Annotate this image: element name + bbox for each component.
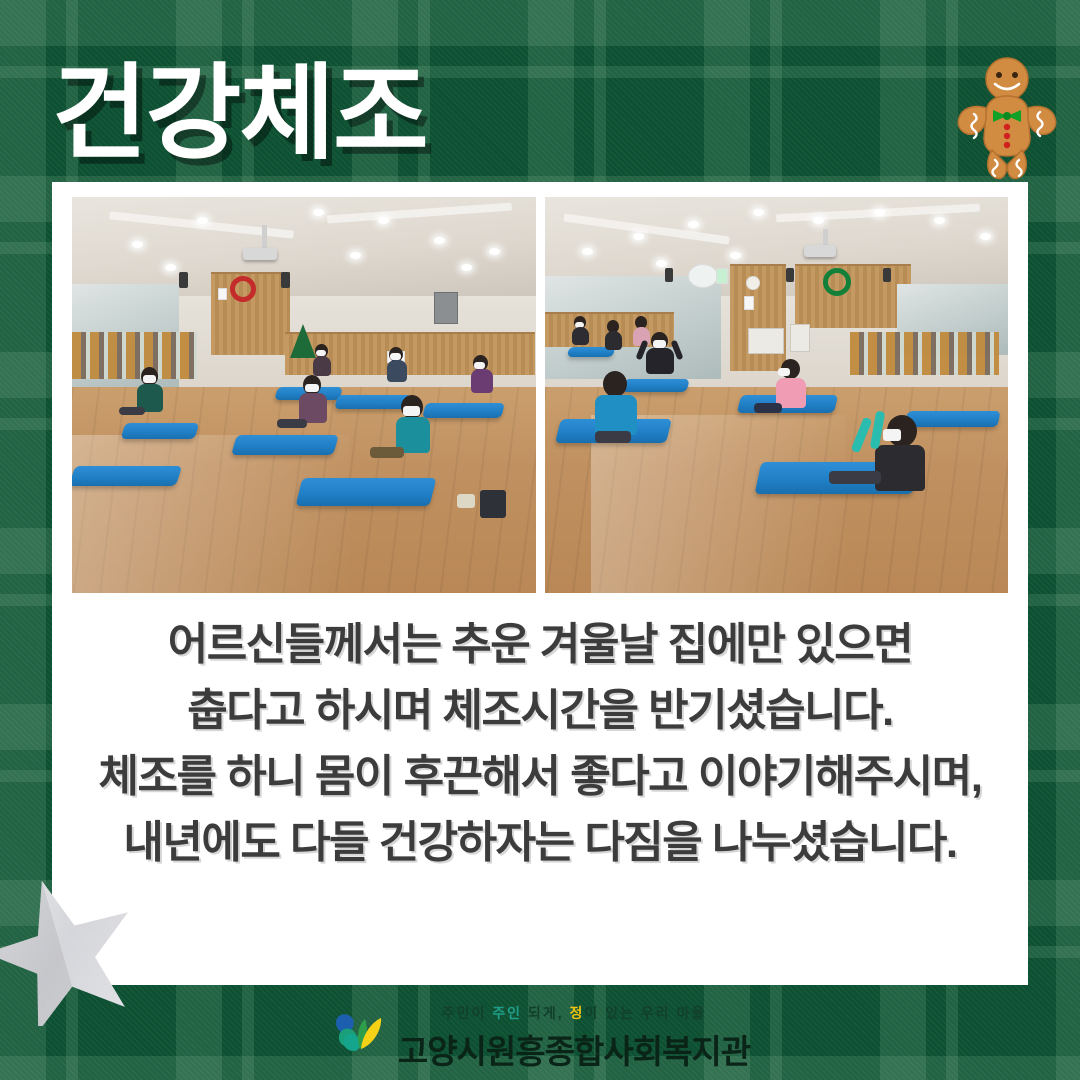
glitter-star-icon (0, 876, 138, 1026)
body-line-2: 춥다고 하시며 체조시간을 반기셨습니다. (52, 678, 1028, 744)
sprout-leaf-logo-icon (330, 1011, 386, 1065)
page-title: 건강체조 (52, 62, 427, 166)
body-line-3: 체조를 하니 몸이 후끈해서 좋다고 이야기해주시며, (52, 744, 1028, 810)
photo-row (72, 197, 1008, 593)
tagline-highlight-yellow: 정 (569, 1005, 584, 1021)
footer: 주민이 주인 되게, 정이 있는 우리 마을 고양시원흥종합사회복지관 (0, 1002, 1080, 1074)
photo-right (545, 197, 1009, 593)
body-line-4: 내년에도 다들 건강하자는 다짐을 나누셨습니다. (52, 810, 1028, 876)
content-card: 어르신들께서는 추운 겨울날 집에만 있으면 춥다고 하시며 체조시간을 반기셨… (52, 182, 1028, 985)
tagline-part-1: 주민이 (442, 1005, 493, 1021)
gingerbread-man-icon (948, 52, 1066, 180)
photo-left (72, 197, 536, 593)
tagline-part-2: 되게, (522, 1005, 569, 1021)
body-text: 어르신들께서는 추운 겨울날 집에만 있으면 춥다고 하시며 체조시간을 반기셨… (52, 612, 1028, 876)
body-line-1: 어르신들께서는 추운 겨울날 집에만 있으면 (52, 612, 1028, 678)
organization-name: 고양시원흥종합사회복지관 (398, 1025, 750, 1073)
tagline-highlight-teal: 주인 (492, 1005, 522, 1021)
tagline-part-3: 이 있는 우리 마을 (584, 1005, 706, 1021)
footer-tagline: 주민이 주인 되게, 정이 있는 우리 마을 (442, 1003, 706, 1023)
